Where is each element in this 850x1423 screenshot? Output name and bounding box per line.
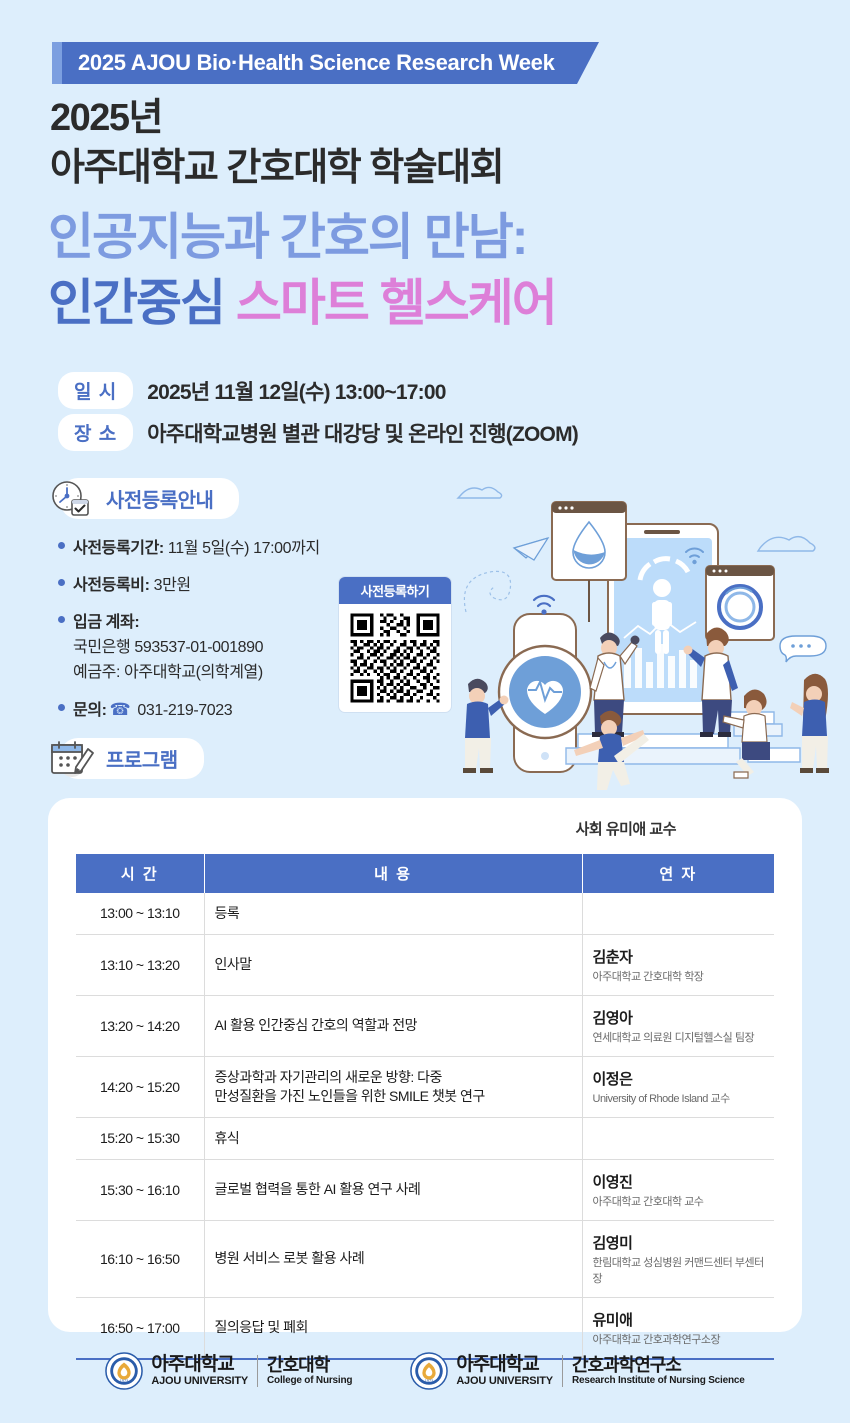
- cell-time: 13:00 ~ 13:10: [76, 893, 204, 934]
- logo-divider: [562, 1355, 563, 1387]
- poster-root: 2025 AJOU Bio·Health Science Research We…: [0, 0, 850, 1423]
- cell-speaker: [582, 1117, 774, 1159]
- speaker-affiliation: 아주대학교 간호대학 학장: [593, 968, 765, 984]
- registration-heading: 사전등록안내: [48, 478, 239, 519]
- logo-unit-en: College of Nursing: [267, 1375, 352, 1386]
- svg-text:1973: 1973: [120, 1379, 128, 1383]
- cell-time: 13:10 ~ 13:20: [76, 934, 204, 995]
- logo-research-institute: 1973 아주대학교 AJOU UNIVERSITY 간호과학연구소 Resea…: [410, 1352, 744, 1390]
- speaker-affiliation: 아주대학교 간호과학연구소장: [593, 1331, 765, 1347]
- speaker-affiliation: University of Rhode Island 교수: [593, 1090, 765, 1106]
- logo-univ-kr: 아주대학교: [151, 1355, 248, 1375]
- reg-value-0: 11월 5일(수) 17:00까지: [164, 540, 320, 557]
- reg-label-2: 입금 계좌:: [73, 614, 139, 631]
- speaker-affiliation: 아주대학교 간호대학 교수: [593, 1193, 765, 1209]
- logo-univ-kr: 아주대학교: [456, 1355, 553, 1375]
- cell-content: 휴식: [204, 1117, 582, 1159]
- speaker-name: 김춘자: [593, 946, 765, 967]
- speaker-name: 유미애: [593, 1309, 765, 1330]
- bullet-dot: [58, 579, 65, 586]
- qr-code-image[interactable]: [347, 610, 443, 706]
- speaker-affiliation: 한림대학교 성심병원 커맨드센터 부센터장: [593, 1254, 765, 1286]
- cell-time: 16:50 ~ 17:00: [76, 1297, 204, 1359]
- list-item: 문의:☎ 031-219-7023: [58, 696, 358, 720]
- health-tech-illustration: [448, 462, 848, 790]
- logo-divider: [257, 1355, 258, 1387]
- cell-content: 인사말: [204, 934, 582, 995]
- bullet-dot: [58, 616, 65, 623]
- clock-check-icon: [48, 479, 94, 519]
- registration-list: 사전등록기간: 11월 5일(수) 17:00까지 사전등록비: 3만원 입금 …: [58, 534, 358, 733]
- logo-univ-en: AJOU UNIVERSITY: [456, 1375, 553, 1387]
- speaker-name: 김영아: [593, 1007, 765, 1028]
- phone-icon: ☎: [110, 700, 131, 719]
- ajou-seal-icon: 1973: [105, 1352, 143, 1390]
- reg-value-1: 3만원: [150, 577, 191, 594]
- qr-label: 사전등록하기: [339, 577, 451, 604]
- banner-text: 2025 AJOU Bio·Health Science Research We…: [62, 42, 577, 84]
- speaker-affiliation: 연세대학교 의료원 디지털헬스실 팀장: [593, 1029, 765, 1045]
- cell-speaker: 이정은University of Rhode Island 교수: [582, 1056, 774, 1117]
- table-row: 16:10 ~ 16:50병원 서비스 로봇 활용 사례김영미한림대학교 성심병…: [76, 1220, 774, 1297]
- qr-registration-block[interactable]: 사전등록하기: [338, 576, 452, 713]
- logo-unit-kr: 간호과학연구소: [572, 1356, 745, 1375]
- program-table: 시 간 내 용 연 자 13:00 ~ 13:10등록13:10 ~ 13:20…: [76, 854, 774, 1360]
- ajou-seal-icon: 1973: [410, 1352, 448, 1390]
- event-place-row: 장 소 아주대학교병원 별관 대강당 및 온라인 진행(ZOOM): [58, 414, 578, 451]
- logo-college-of-nursing: 1973 아주대학교 AJOU UNIVERSITY 간호대학 College …: [105, 1352, 352, 1390]
- cell-speaker: [582, 893, 774, 934]
- table-row: 15:20 ~ 15:30휴식: [76, 1117, 774, 1159]
- account-bank: 국민은행 593537-01-001890: [73, 636, 358, 659]
- calendar-pencil-icon: [48, 739, 94, 779]
- list-item: 입금 계좌:: [58, 608, 358, 632]
- cell-speaker: 김춘자아주대학교 간호대학 학장: [582, 934, 774, 995]
- banner-accent-bar: [52, 42, 62, 84]
- table-row: 13:10 ~ 13:20인사말김춘자아주대학교 간호대학 학장: [76, 934, 774, 995]
- title-line-2: 아주대학교 간호대학 학술대회: [50, 148, 503, 189]
- column-header-speaker: 연 자: [582, 854, 774, 893]
- subtitle-line-2: 인간중심 스마트 헬스케어: [48, 278, 556, 328]
- date-value: 2025년 11월 12일(수) 13:00~17:00: [147, 376, 445, 406]
- moderator-label: 사회 유미애 교수: [576, 818, 676, 839]
- logo-unit-en: Research Institute of Nursing Science: [572, 1375, 745, 1386]
- cell-content: 글로벌 협력을 통한 AI 활용 연구 사례: [204, 1159, 582, 1220]
- speaker-name: 이정은: [593, 1068, 765, 1089]
- cell-time: 14:20 ~ 15:20: [76, 1056, 204, 1117]
- cell-content: 등록: [204, 893, 582, 934]
- cell-speaker: 유미애아주대학교 간호과학연구소장: [582, 1297, 774, 1359]
- place-value: 아주대학교병원 별관 대강당 및 온라인 진행(ZOOM): [147, 418, 578, 448]
- speaker-name: 이영진: [593, 1171, 765, 1192]
- banner-tail-shape: [577, 42, 599, 84]
- event-date-row: 일 시 2025년 11월 12일(수) 13:00~17:00: [58, 372, 446, 409]
- footer-logos: 1973 아주대학교 AJOU UNIVERSITY 간호대학 College …: [0, 1352, 850, 1390]
- table-row: 16:50 ~ 17:00질의응답 및 폐회유미애아주대학교 간호과학연구소장: [76, 1297, 774, 1359]
- bullet-dot: [58, 704, 65, 711]
- svg-text:1973: 1973: [425, 1379, 433, 1383]
- cell-time: 15:20 ~ 15:30: [76, 1117, 204, 1159]
- logo-univ-en: AJOU UNIVERSITY: [151, 1375, 248, 1387]
- cell-time: 13:20 ~ 14:20: [76, 995, 204, 1056]
- list-item: 사전등록기간: 11월 5일(수) 17:00까지: [58, 534, 358, 558]
- cell-time: 16:10 ~ 16:50: [76, 1220, 204, 1297]
- list-item: 사전등록비: 3만원: [58, 571, 358, 595]
- subtitle-line-1: 인공지능과 간호의 만남:: [48, 212, 526, 262]
- reg-label-0: 사전등록기간:: [73, 540, 164, 557]
- table-row: 15:30 ~ 16:10글로벌 협력을 통한 AI 활용 연구 사례이영진아주…: [76, 1159, 774, 1220]
- cell-speaker: 김영미한림대학교 성심병원 커맨드센터 부센터장: [582, 1220, 774, 1297]
- reg-label-1: 사전등록비:: [73, 577, 150, 594]
- reg-value-3: 031-219-7023: [133, 702, 232, 719]
- header-banner: 2025 AJOU Bio·Health Science Research We…: [52, 42, 599, 84]
- column-header-time: 시 간: [76, 854, 204, 893]
- table-row: 13:00 ~ 13:10등록: [76, 893, 774, 934]
- cell-content: 질의응답 및 폐회: [204, 1297, 582, 1359]
- cell-time: 15:30 ~ 16:10: [76, 1159, 204, 1220]
- column-header-content: 내 용: [204, 854, 582, 893]
- cell-content: 병원 서비스 로봇 활용 사례: [204, 1220, 582, 1297]
- cell-speaker: 이영진아주대학교 간호대학 교수: [582, 1159, 774, 1220]
- logo-unit-kr: 간호대학: [267, 1356, 352, 1375]
- table-row: 13:20 ~ 14:20AI 활용 인간중심 간호의 역할과 전망김영아연세대…: [76, 995, 774, 1056]
- speaker-name: 김영미: [593, 1232, 765, 1253]
- subtitle-pink-part: 스마트 헬스케어: [236, 275, 556, 331]
- date-label: 일 시: [58, 372, 133, 409]
- account-holder: 예금주: 아주대학교(의학계열): [73, 661, 358, 684]
- subtitle-blue-part: 인간중심: [48, 275, 224, 331]
- program-card: 사회 유미애 교수 시 간 내 용 연 자 13:00 ~ 13:10등록13:…: [48, 798, 802, 1332]
- cell-speaker: 김영아연세대학교 의료원 디지털헬스실 팀장: [582, 995, 774, 1056]
- program-heading: 프로그램: [48, 738, 204, 779]
- bullet-dot: [58, 542, 65, 549]
- cell-content: AI 활용 인간중심 간호의 역할과 전망: [204, 995, 582, 1056]
- table-header-row: 시 간 내 용 연 자: [76, 854, 774, 893]
- program-table-body: 13:00 ~ 13:10등록13:10 ~ 13:20인사말김춘자아주대학교 …: [76, 893, 774, 1359]
- title-line-1: 2025년: [50, 98, 162, 139]
- table-row: 14:20 ~ 15:20증상과학과 자기관리의 새로운 방향: 다중만성질환을…: [76, 1056, 774, 1117]
- place-label: 장 소: [58, 414, 133, 451]
- reg-label-3: 문의:: [73, 702, 107, 719]
- cell-content: 증상과학과 자기관리의 새로운 방향: 다중만성질환을 가진 노인들을 위한 S…: [204, 1056, 582, 1117]
